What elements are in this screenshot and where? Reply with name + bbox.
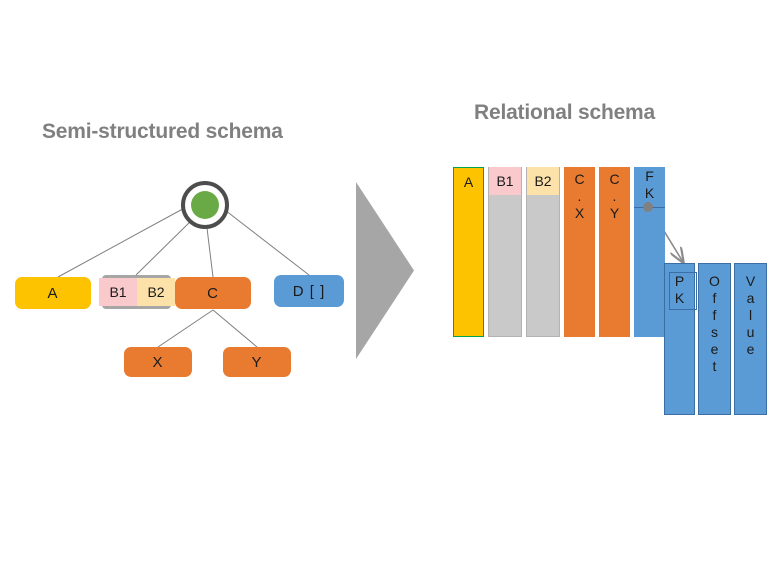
- tree-node-a-label: A: [47, 285, 58, 302]
- tree-node-b1-label: B1: [109, 284, 126, 300]
- edge-c-y: [213, 310, 257, 347]
- tree-node-d-label: D [ ]: [293, 283, 326, 300]
- edge-root-d: [221, 207, 309, 275]
- relational-column-offset[interactable]: Offset: [698, 263, 731, 415]
- relational-column-cx[interactable]: C.X: [564, 167, 595, 337]
- edge-root-a: [58, 205, 190, 277]
- relational-column-b2-header: B2: [527, 167, 559, 195]
- diagram-canvas: Semi-structured schema Relational schema…: [0, 0, 768, 576]
- tree-node-d[interactable]: D [ ]: [274, 275, 344, 307]
- relational-schema-title: Relational schema: [474, 101, 655, 125]
- root-circle-icon: [191, 191, 219, 219]
- relational-column-cy-header: C.Y: [609, 171, 619, 222]
- tree-node-b2[interactable]: B2: [137, 278, 175, 306]
- relational-column-cy[interactable]: C.Y: [599, 167, 630, 337]
- fk-anchor-dot: [643, 202, 653, 212]
- tree-node-y[interactable]: Y: [223, 347, 291, 377]
- edge-root-b: [136, 216, 196, 275]
- tree-node-b1[interactable]: B1: [99, 278, 137, 306]
- transform-chevron-icon: [356, 182, 414, 359]
- tree-node-b-group[interactable]: B1 B2: [99, 275, 171, 309]
- tree-node-a[interactable]: A: [15, 277, 91, 309]
- relational-column-value[interactable]: Value: [734, 263, 767, 415]
- tree-node-c-label: C: [207, 285, 219, 302]
- relational-column-fk-header: FK: [645, 168, 654, 202]
- relational-column-value-header: Value: [746, 273, 755, 358]
- relational-column-fk[interactable]: FK: [634, 167, 665, 337]
- relational-column-a-header: A: [454, 168, 483, 196]
- relational-column-offset-header: Offset: [709, 273, 720, 375]
- edge-c-x: [158, 310, 213, 347]
- relational-column-b2-body: [527, 195, 559, 336]
- relational-column-a-body: [454, 196, 483, 336]
- tree-node-y-label: Y: [251, 354, 262, 371]
- tree-node-b2-label: B2: [147, 284, 164, 300]
- relational-column-b1-body: [489, 195, 521, 336]
- pk-header-box: [669, 272, 697, 310]
- root-node[interactable]: [181, 181, 229, 229]
- edge-root-c: [207, 228, 213, 277]
- relational-column-a[interactable]: A: [453, 167, 484, 337]
- semi-structured-schema-title: Semi-structured schema: [42, 120, 283, 144]
- relational-column-b1-header: B1: [489, 167, 521, 195]
- relational-column-b2[interactable]: B2: [526, 167, 560, 337]
- relational-column-cx-header: C.X: [574, 171, 584, 222]
- tree-node-c[interactable]: C: [175, 277, 251, 309]
- tree-node-x-label: X: [152, 354, 163, 371]
- tree-node-x[interactable]: X: [124, 347, 192, 377]
- relational-column-b1[interactable]: B1: [488, 167, 522, 337]
